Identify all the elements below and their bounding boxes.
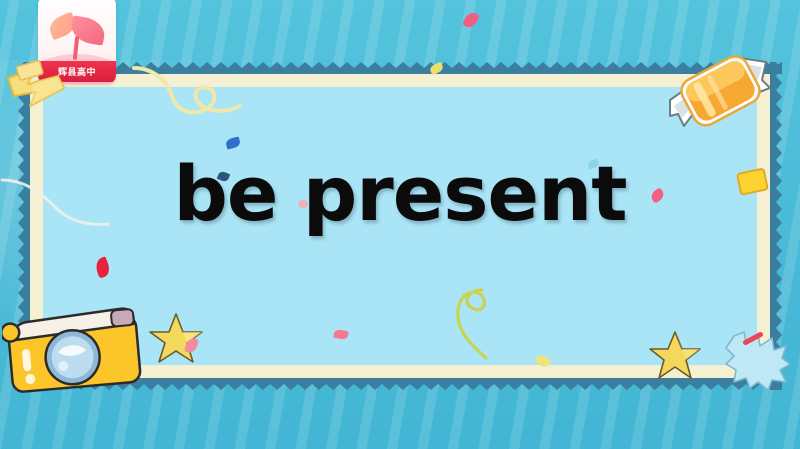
slide-canvas: be present 辉县高中 [0, 0, 800, 449]
ribbon-streamer-icon [452, 286, 510, 364]
headline-text: be present [0, 156, 800, 232]
camera-icon [2, 305, 148, 395]
ribbon-streamer-icon [128, 66, 248, 138]
square-confetti-icon [16, 60, 46, 82]
confetti-fleck [298, 200, 308, 208]
square-confetti-icon [736, 168, 770, 196]
star-icon [648, 330, 702, 382]
wrapped-candy-icon [668, 44, 772, 136]
